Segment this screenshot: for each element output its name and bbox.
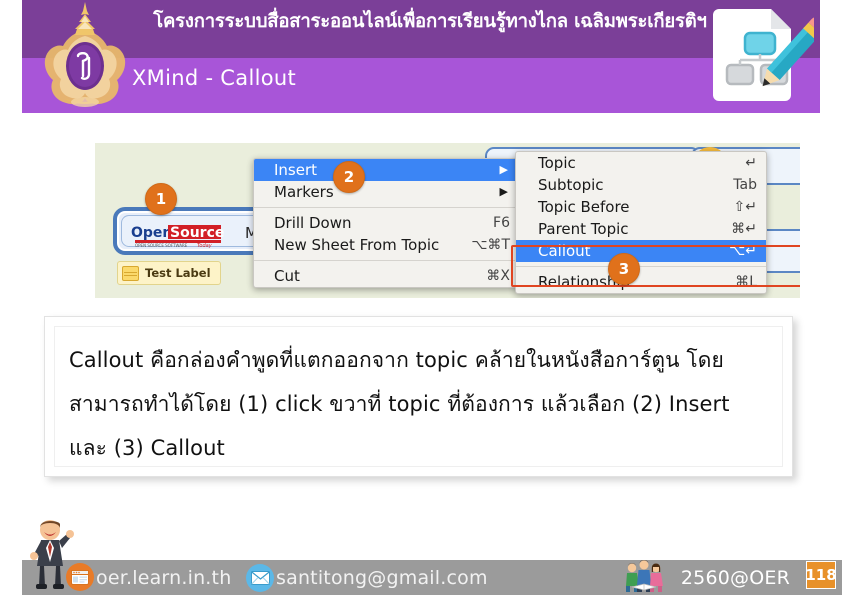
insert-submenu-item-shortcut: ⌘L — [735, 271, 757, 293]
mindmap-document-pencil-icon — [709, 3, 814, 108]
footer-website[interactable]: oer.learn.in.th — [96, 567, 231, 589]
svg-text:Open: Open — [131, 225, 172, 241]
page-header: โครงการระบบสื่อสาระออนไลน์เพื่อการเรียนร… — [22, 0, 820, 113]
envelope-icon[interactable] — [246, 564, 274, 592]
insert-submenu-item-shortcut: ↵ — [745, 152, 757, 174]
insert-submenu-item-label: Topic — [538, 154, 576, 172]
step-badge-3: 3 — [608, 253, 640, 285]
xmind-screenshot: Main Topic 3 Open Source OPEN SOURCE SOF… — [95, 143, 800, 298]
insert-submenu-item-label: Subtopic — [538, 176, 604, 194]
insert-submenu-item-shortcut: ⌥↵ — [729, 240, 757, 262]
page-number-badge: 118 — [806, 561, 836, 589]
mindmap-test-label[interactable]: Test Label — [117, 261, 221, 285]
context-menu-item-label: Insert — [274, 161, 317, 179]
page-subtitle: XMind - Callout — [132, 66, 296, 90]
submenu-arrow-icon: ▶ — [500, 159, 508, 181]
browser-window-icon[interactable] — [66, 563, 94, 591]
insert-submenu-item-topic-before[interactable]: Topic Before⇧↵ — [516, 196, 766, 218]
description-inner: Callout คือกล่องคำพูดที่แตกออกจาก topic … — [54, 326, 783, 467]
insert-submenu-item-label: Topic Before — [538, 198, 630, 216]
context-menu-item-label: Cut — [274, 267, 300, 285]
opensource-today-logo: Open Source OPEN SOURCE SOFTWARE Today — [131, 224, 239, 248]
footer-email[interactable]: santitong@gmail.com — [276, 567, 488, 589]
context-menu-item-label: Drill Down — [274, 214, 352, 232]
insert-submenu-item-label: Callout — [538, 242, 591, 260]
svg-text:Source: Source — [170, 225, 224, 241]
step-badge-2: 2 — [333, 161, 365, 193]
context-menu-item-shortcut: F6 — [493, 212, 510, 234]
insert-submenu-item-subtopic[interactable]: SubtopicTab — [516, 174, 766, 196]
context-menu-item-shortcut: ⌘X — [486, 265, 510, 287]
context-menu-item-label: New Sheet From Topic — [274, 236, 439, 254]
context-menu-separator — [254, 260, 519, 261]
description-box: Callout คือกล่องคำพูดที่แตกออกจาก topic … — [44, 316, 793, 477]
step-badge-1: 1 — [145, 183, 177, 215]
context-menu-item-label: Markers — [274, 183, 334, 201]
insert-submenu-item-relationship[interactable]: Relationship⌘L — [516, 271, 766, 293]
context-menu-item-insert[interactable]: Insert▶ — [254, 159, 519, 181]
insert-submenu-item-callout[interactable]: Callout⌥↵ — [516, 240, 766, 262]
context-menu-item-cut[interactable]: Cut⌘X — [254, 265, 519, 287]
insert-submenu-item-topic[interactable]: Topic↵ — [516, 152, 766, 174]
svg-text:OPEN SOURCE SOFTWARE: OPEN SOURCE SOFTWARE — [135, 243, 188, 248]
insert-submenu-item-label: Parent Topic — [538, 220, 629, 238]
footer-year-tag: 2560@OER — [681, 567, 790, 589]
page-title: โครงการระบบสื่อสาระออนไลน์เพื่อการเรียนร… — [130, 11, 730, 33]
insert-submenu[interactable]: Topic↵SubtopicTabTopic Before⇧↵Parent To… — [515, 151, 767, 294]
context-menu-separator — [254, 207, 519, 208]
context-menu-item-shortcut: ⌥⌘T — [471, 234, 510, 256]
mindmap-test-label-text: Test Label — [145, 266, 211, 280]
context-menu-item-markers[interactable]: Markers▶ — [254, 181, 519, 203]
context-menu-item-new-sheet-from-topic[interactable]: New Sheet From Topic⌥⌘T — [254, 234, 519, 256]
insert-submenu-item-shortcut: Tab — [733, 174, 757, 196]
insert-submenu-item-shortcut: ⇧↵ — [734, 196, 757, 218]
description-line-2: สามารถทำได้โดย (1) click ขวาที่ topic ที… — [69, 382, 768, 426]
description-line-1: Callout คือกล่องคำพูดที่แตกออกจาก topic … — [69, 338, 768, 382]
children-reading-icon — [624, 560, 664, 594]
context-menu-item-drill-down[interactable]: Drill DownF6 — [254, 212, 519, 234]
label-swatch-icon — [122, 266, 139, 281]
insert-submenu-separator — [516, 266, 766, 267]
svg-text:Today: Today — [197, 243, 213, 248]
insert-submenu-item-parent-topic[interactable]: Parent Topic⌘↵ — [516, 218, 766, 240]
insert-submenu-item-shortcut: ⌘↵ — [731, 218, 757, 240]
submenu-arrow-icon: ▶ — [500, 181, 508, 203]
context-menu[interactable]: Insert▶Markers▶Drill DownF6New Sheet Fro… — [253, 158, 520, 288]
royal-thai-emblem-icon — [37, 2, 133, 110]
description-line-3: และ (3) Callout — [69, 426, 768, 470]
